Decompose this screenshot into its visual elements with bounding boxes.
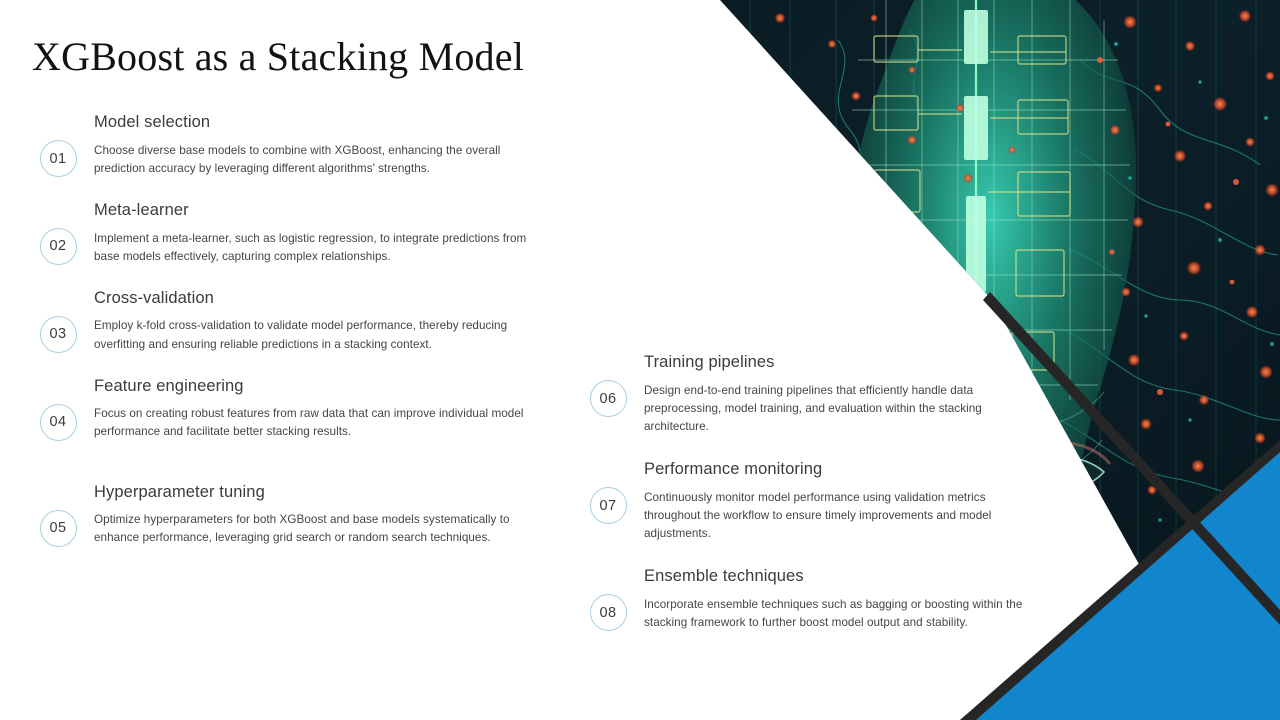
item-text: Performance monitoring Continuously moni… xyxy=(636,459,1025,543)
list-item[interactable]: 05 Hyperparameter tuning Optimize hyperp… xyxy=(30,482,540,548)
badge-wrap: 01 xyxy=(30,112,86,177)
item-text: Model selection Choose diverse base mode… xyxy=(86,112,540,178)
item-description: Choose diverse base models to combine wi… xyxy=(94,142,540,178)
item-title: Ensemble techniques xyxy=(644,566,1025,587)
item-text: Ensemble techniques Incorporate ensemble… xyxy=(636,566,1025,632)
badge-wrap: 04 xyxy=(30,376,86,441)
step-number-badge: 04 xyxy=(40,404,77,441)
item-title: Model selection xyxy=(94,112,540,133)
list-item[interactable]: 08 Ensemble techniques Incorporate ensem… xyxy=(580,566,1025,632)
badge-wrap: 02 xyxy=(30,200,86,265)
item-text: Training pipelines Design end-to-end tra… xyxy=(636,352,1025,436)
list-item[interactable]: 07 Performance monitoring Continuously m… xyxy=(580,459,1025,543)
item-description: Optimize hyperparameters for both XGBoos… xyxy=(94,511,540,547)
list-item[interactable]: 01 Model selection Choose diverse base m… xyxy=(30,112,540,178)
badge-wrap: 08 xyxy=(580,566,636,631)
badge-wrap: 07 xyxy=(580,459,636,524)
step-number-badge: 08 xyxy=(590,594,627,631)
feature-list-left: 01 Model selection Choose diverse base m… xyxy=(30,112,540,547)
item-text: Meta-learner Implement a meta-learner, s… xyxy=(86,200,540,266)
item-description: Incorporate ensemble techniques such as … xyxy=(644,596,1025,632)
badge-wrap: 06 xyxy=(580,352,636,417)
item-description: Focus on creating robust features from r… xyxy=(94,405,540,441)
item-description: Continuously monitor model performance u… xyxy=(644,489,1025,543)
item-text: Cross-validation Employ k-fold cross-val… xyxy=(86,288,540,354)
item-description: Design end-to-end training pipelines tha… xyxy=(644,382,1025,436)
step-number-badge: 06 xyxy=(590,380,627,417)
badge-wrap: 03 xyxy=(30,288,86,353)
step-number-badge: 05 xyxy=(40,510,77,547)
item-title: Hyperparameter tuning xyxy=(94,482,540,503)
diagonal-line-descending xyxy=(983,292,1280,625)
item-description: Employ k-fold cross-validation to valida… xyxy=(94,317,540,353)
item-text: Feature engineering Focus on creating ro… xyxy=(86,376,540,442)
step-number-badge: 01 xyxy=(40,140,77,177)
list-item[interactable]: 03 Cross-validation Employ k-fold cross-… xyxy=(30,288,540,354)
item-title: Cross-validation xyxy=(94,288,540,309)
step-number-badge: 02 xyxy=(40,228,77,265)
page-title: XGBoost as a Stacking Model xyxy=(32,34,524,80)
list-item[interactable]: 02 Meta-learner Implement a meta-learner… xyxy=(30,200,540,266)
slide-canvas: XGBoost as a Stacking Model 01 Model sel… xyxy=(0,0,1280,720)
feature-list-right: 06 Training pipelines Design end-to-end … xyxy=(580,352,1025,632)
item-title: Performance monitoring xyxy=(644,459,1025,480)
badge-wrap: 05 xyxy=(30,482,86,547)
item-title: Training pipelines xyxy=(644,352,1025,373)
data-dots-teal xyxy=(1113,41,1275,603)
item-title: Meta-learner xyxy=(94,200,540,221)
list-item[interactable]: 04 Feature engineering Focus on creating… xyxy=(30,376,540,442)
step-number-badge: 07 xyxy=(590,487,627,524)
step-number-badge: 03 xyxy=(40,316,77,353)
item-text: Hyperparameter tuning Optimize hyperpara… xyxy=(86,482,540,548)
item-title: Feature engineering xyxy=(94,376,540,397)
list-item[interactable]: 06 Training pipelines Design end-to-end … xyxy=(580,352,1025,436)
item-description: Implement a meta-learner, such as logist… xyxy=(94,230,540,266)
